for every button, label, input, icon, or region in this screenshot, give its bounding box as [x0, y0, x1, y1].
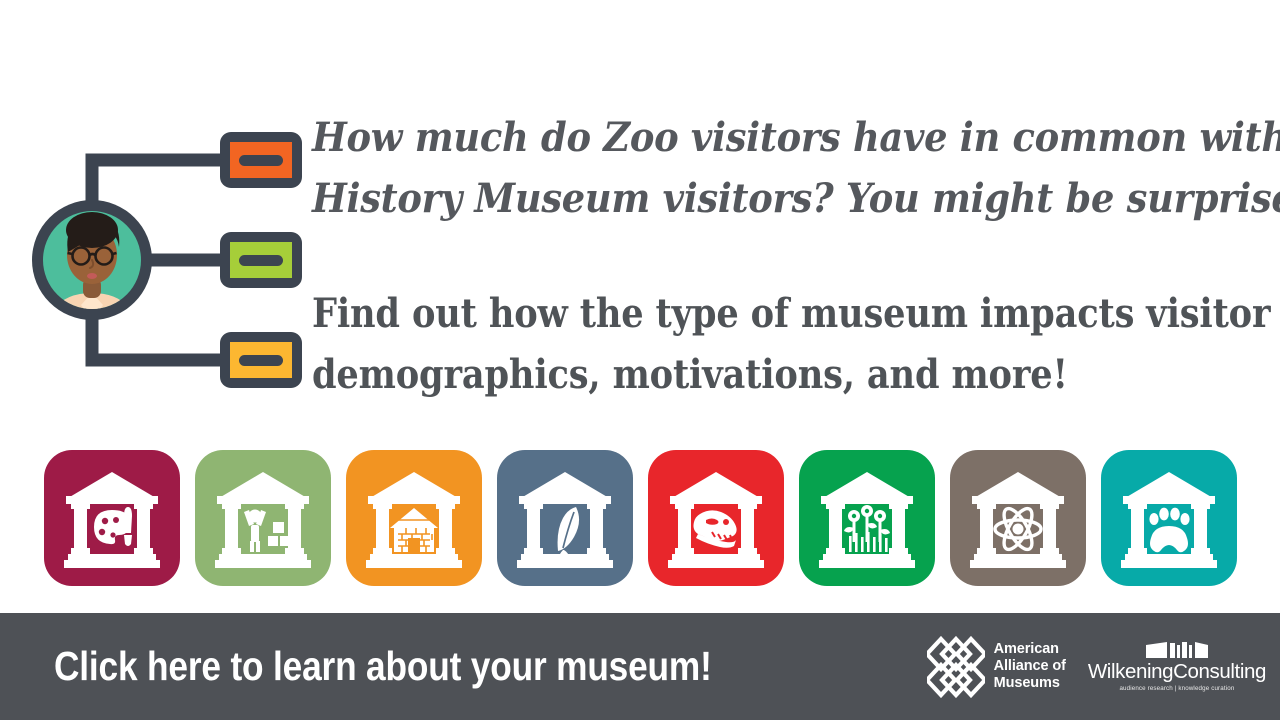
museum-tile-botanical[interactable] — [799, 450, 935, 586]
aam-lattice-logo-icon — [927, 635, 985, 699]
wilkening-open-book-logo-icon — [1144, 642, 1210, 659]
museum-tile-children[interactable] — [195, 450, 331, 586]
museum-flowers-icon — [799, 450, 935, 586]
subheadline: Find out how the type of museum impacts … — [312, 284, 1272, 406]
museum-type-icon-strip — [0, 450, 1280, 595]
connector-node-orange — [220, 132, 302, 188]
wilkening-tagline: audience research | knowledge curation — [1119, 685, 1234, 692]
headline-line-2: History Museum visitors? You might be su… — [312, 169, 1177, 230]
museum-tile-natural-history[interactable] — [648, 450, 784, 586]
museum-tile-science[interactable] — [950, 450, 1086, 586]
logo-group: American Alliance of Museums WilkeningCo… — [927, 613, 1266, 720]
connector-node-amber — [220, 332, 302, 388]
museum-tile-history[interactable] — [497, 450, 633, 586]
wilkening-logo[interactable]: WilkeningConsulting audience research | … — [1088, 642, 1266, 692]
museum-quill-icon — [497, 450, 633, 586]
cta-banner[interactable]: Click here to learn about your museum! A… — [0, 613, 1280, 720]
connector-node-lime — [220, 232, 302, 288]
museum-paw-print-icon — [1101, 450, 1237, 586]
museum-art-palette-icon — [44, 450, 180, 586]
museum-dinosaur-skull-icon — [648, 450, 784, 586]
museum-tile-zoo[interactable] — [1101, 450, 1237, 586]
headline: How much do Zoo visitors have in common … — [312, 108, 1252, 230]
museum-tile-historic-house[interactable] — [346, 450, 482, 586]
headline-line-1: How much do Zoo visitors have in common … — [312, 108, 1177, 169]
visitor-persona-network-icon — [30, 112, 302, 390]
aam-wordmark: American Alliance of Museums — [994, 641, 1066, 692]
wilkening-wordmark: WilkeningConsulting — [1088, 660, 1266, 684]
museum-child-blocks-icon — [195, 450, 331, 586]
cta-label: Click here to learn about your museum! — [54, 643, 712, 690]
aam-logo[interactable]: American Alliance of Museums — [927, 635, 1066, 699]
museum-historic-house-icon — [346, 450, 482, 586]
hero-section: How much do Zoo visitors have in common … — [0, 0, 1280, 440]
museum-atom-icon — [950, 450, 1086, 586]
museum-tile-art[interactable] — [44, 450, 180, 586]
subhead-line-1: Find out how the type of museum impacts … — [312, 284, 1157, 345]
subhead-line-2: demographics, motivations, and more! — [312, 345, 1157, 406]
